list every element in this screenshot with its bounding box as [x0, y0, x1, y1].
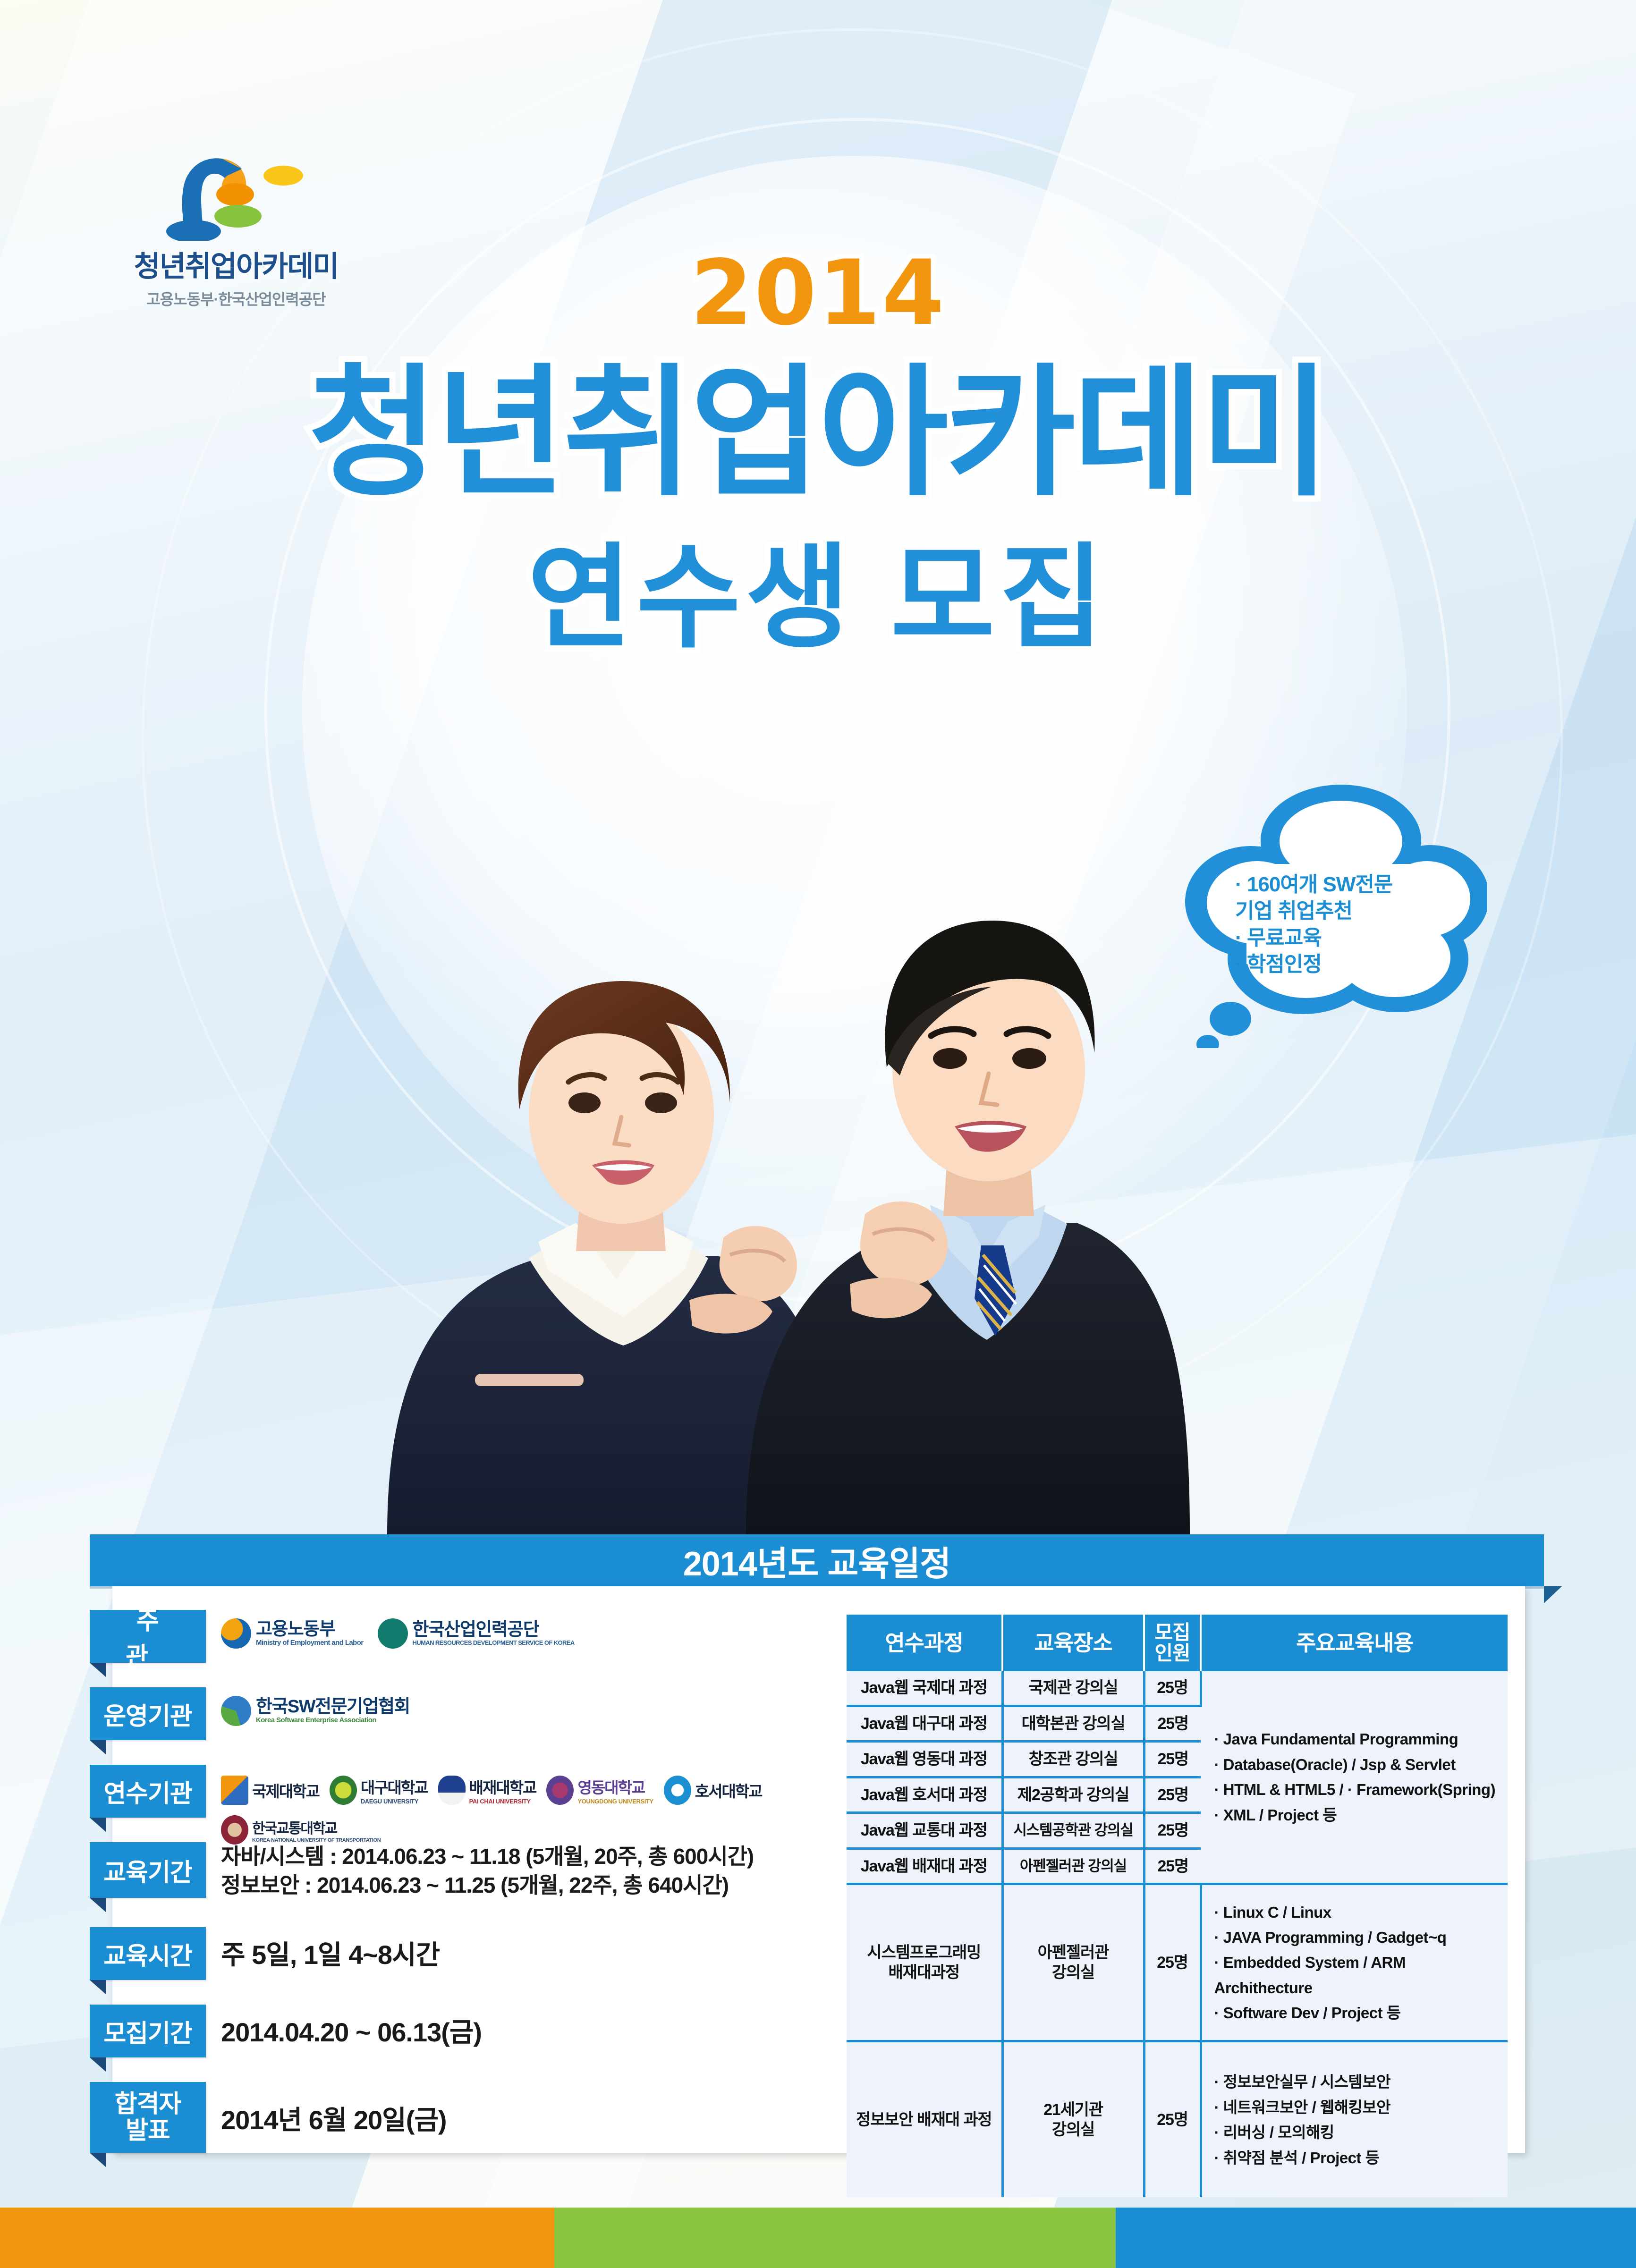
period-line-1: 자바/시스템 : 2014.06.23 ~ 11.18 (5개월, 20주, 총… [221, 1842, 826, 1871]
cell-quota: 25명 [1144, 1884, 1201, 2041]
cell-course: 시스템프로그래밍 배재대과정 [847, 1884, 1002, 2041]
content-line: · Linux C / Linux [1214, 1900, 1505, 1925]
info-row-period: 교육기간 자바/시스템 : 2014.06.23 ~ 11.18 (5개월, 2… [90, 1842, 826, 1921]
university-name: 국제대학교 [252, 1779, 319, 1802]
content-line: · HTML & HTML5 / · Framework(Spring) [1214, 1777, 1505, 1802]
hero-year: 2014 [0, 241, 1636, 345]
students-photo [359, 722, 1190, 1534]
info-label-host: 주 관 [90, 1610, 206, 1663]
info-row-operator: 운영기관 한국SW전문기업협회 Korea Software Enterpris… [90, 1687, 826, 1759]
cell-quota: 25명 [1144, 2041, 1201, 2198]
footer-segment-orange [0, 2208, 554, 2268]
logo-mark-icon [151, 142, 321, 241]
university-logos: 국제대학교 대구대학교 DAEGU UNIVERSITY 배재대학교 PAI C… [221, 1775, 826, 1845]
university-crest-icon [221, 1776, 248, 1805]
cell-course: Java웹 배재대 과정 [847, 1848, 1002, 1884]
cell-place: 국제관 강의실 [1002, 1671, 1144, 1706]
cell-content-system: · Linux C / Linux · JAVA Programming / G… [1201, 1884, 1508, 2041]
info-label-period: 교육기간 [90, 1842, 206, 1898]
university-name-en: PAI CHAI UNIVERSITY [469, 1798, 536, 1805]
announcement-value: 2014년 6월 20일(금) [221, 2103, 826, 2138]
content-line: · Software Dev / Project 등 [1214, 2000, 1505, 2025]
info-label-operator: 운영기관 [90, 1687, 206, 1740]
schedule-table: 연수과정 교육장소 모집 인원 주요교육내용 Java웹 국제대 과정 국제관 … [847, 1615, 1508, 2197]
header-course: 연수과정 [847, 1615, 1002, 1671]
org-logo-molab: 고용노동부 Ministry of Employment and Labor [221, 1618, 364, 1649]
hero-title-line1: 청년취업아카데미 [0, 359, 1636, 508]
header-place: 교육장소 [1002, 1615, 1144, 1671]
application-value: 2014.04.20 ~ 06.13(금) [221, 2015, 826, 2050]
bubble-line-1: · 160여개 SW전문 [1235, 872, 1438, 898]
university-name: 한국교통대학교 [252, 1817, 381, 1837]
university-name: 배재대학교 [469, 1775, 536, 1798]
info-row-application: 모집기간 2014.04.20 ~ 06.13(금) [90, 2005, 826, 2076]
university-name: 영동대학교 [577, 1775, 653, 1798]
cell-place: 제2공학과 강의실 [1002, 1777, 1144, 1813]
bubble-line-2: 기업 취업추천 [1235, 898, 1438, 924]
org-name-en: Ministry of Employment and Labor [256, 1639, 364, 1647]
cell-quota: 25명 [1144, 1671, 1201, 1706]
cell-place: 대학본관 강의실 [1002, 1706, 1144, 1742]
table-header-row: 연수과정 교육장소 모집 인원 주요교육내용 [847, 1615, 1508, 1671]
university-name: 호서대학교 [695, 1779, 762, 1802]
cell-place: 시스템공학관 강의실 [1002, 1813, 1144, 1849]
two-students-illustration [359, 722, 1190, 1534]
info-label-application: 모집기간 [90, 2005, 206, 2057]
org-logo-hrdkorea: 한국산업인력공단 HUMAN RESOURCES DEVELOPMENT SER… [378, 1618, 575, 1649]
org-name: 고용노동부 [256, 1620, 364, 1639]
university-crest-icon [221, 1815, 248, 1845]
schedule-banner-title: 2014년도 교육일정 [683, 1536, 951, 1585]
table-row: Java웹 국제대 과정 국제관 강의실 25명 · Java Fundamen… [847, 1671, 1508, 1706]
university-name-en: DAEGU UNIVERSITY [361, 1798, 428, 1805]
table-row: 정보보안 배재대 과정 21세기관 강의실 25명 · 정보보안실무 / 시스템… [847, 2041, 1508, 2198]
university-paichai: 배재대학교 PAI CHAI UNIVERSITY [438, 1775, 536, 1805]
cell-quota: 25명 [1144, 1706, 1201, 1742]
cell-course: Java웹 교통대 과정 [847, 1813, 1002, 1849]
cell-content-security: · 정보보안실무 / 시스템보안 · 네트워크보안 / 웹해킹보안 · 리버싱 … [1201, 2041, 1508, 2198]
content-line: · 리버싱 / 모의해킹 [1214, 2120, 1505, 2145]
header-content: 주요교육내용 [1201, 1615, 1508, 1671]
cell-course: 정보보안 배재대 과정 [847, 2041, 1002, 2198]
content-line: · Database(Oracle) / Jsp & Servlet [1214, 1752, 1505, 1777]
info-label-institutions: 연수기관 [90, 1765, 206, 1818]
footer-color-bar [0, 2208, 1636, 2268]
footer-segment-blue [1116, 2208, 1636, 2268]
cell-quota: 25명 [1144, 1813, 1201, 1849]
molab-emblem-icon [221, 1618, 251, 1649]
content-line: · XML / Project 등 [1214, 1803, 1505, 1828]
schedule-banner: 2014년도 교육일정 [90, 1534, 1544, 1586]
poster-root: 청년취업아카데미 고용노동부·한국산업인력공단 2014 청년취업아카데미 연수… [0, 0, 1636, 2268]
cell-quota: 25명 [1144, 1848, 1201, 1884]
info-row-announcement: 합격자 발표 2014년 6월 20일(금) [90, 2082, 826, 2167]
info-row-institutions: 연수기관 국제대학교 대구대학교 DAEGU UNIVERSITY [90, 1765, 826, 1836]
university-name: 대구대학교 [361, 1775, 428, 1798]
info-label-announcement: 합격자 발표 [90, 2082, 206, 2153]
header-quota: 모집 인원 [1144, 1615, 1201, 1671]
cell-course: Java웹 영동대 과정 [847, 1742, 1002, 1777]
university-crest-icon [546, 1776, 574, 1805]
host-logos: 고용노동부 Ministry of Employment and Labor 한… [221, 1618, 826, 1649]
cell-course: Java웹 호서대 과정 [847, 1777, 1002, 1813]
university-transportation: 한국교통대학교 KOREA NATIONAL UNIVERSITY OF TRA… [221, 1815, 381, 1845]
info-list: 주 관 고용노동부 Ministry of Employment and Lab… [90, 1610, 826, 2173]
table-row: 시스템프로그래밍 배재대과정 아펜젤러관 강의실 25명 · Linux C /… [847, 1884, 1508, 2041]
content-line: · 취약점 분석 / Project 등 [1214, 2145, 1505, 2170]
cell-content-java: · Java Fundamental Programming · Databas… [1201, 1671, 1508, 1884]
footer-segment-green [554, 2208, 1116, 2268]
org-name-en: HUMAN RESOURCES DEVELOPMENT SERVICE OF K… [413, 1640, 575, 1646]
university-crest-icon [438, 1776, 466, 1805]
cell-quota: 25명 [1144, 1777, 1201, 1813]
university-hoseo: 호서대학교 [664, 1776, 762, 1805]
hours-value: 주 5일, 1일 4~8시간 [221, 1938, 826, 1972]
info-row-hours: 교육시간 주 5일, 1일 4~8시간 [90, 1927, 826, 1999]
content-line: · 정보보안실무 / 시스템보안 [1214, 2069, 1505, 2094]
university-daegu: 대구대학교 DAEGU UNIVERSITY [330, 1775, 428, 1805]
cell-place: 창조관 강의실 [1002, 1742, 1144, 1777]
banner-fold-decoration [1544, 1586, 1562, 1603]
announcement-label-text: 합격자 발표 [115, 2091, 181, 2144]
university-crest-icon [664, 1776, 691, 1805]
university-crest-icon [330, 1776, 357, 1805]
kosea-emblem-icon [221, 1696, 251, 1726]
cell-place: 아펜젤러관 강의실 [1002, 1848, 1144, 1884]
content-line: · Embedded System / ARM Archithecture [1214, 1950, 1505, 2000]
cell-quota: 25명 [1144, 1742, 1201, 1777]
hrdkorea-emblem-icon [378, 1618, 408, 1649]
info-row-host: 주 관 고용노동부 Ministry of Employment and Lab… [90, 1610, 826, 1682]
university-kookje: 국제대학교 [221, 1776, 319, 1805]
cell-place: 21세기관 강의실 [1002, 2041, 1144, 2198]
content-line: · 네트워크보안 / 웹해킹보안 [1214, 2095, 1505, 2120]
male-student [746, 921, 1190, 1534]
period-line-2: 정보보안 : 2014.06.23 ~ 11.25 (5개월, 22주, 총 6… [221, 1871, 826, 1900]
benefits-thought-bubble: · 160여개 SW전문 기업 취업추천 · 무료교육 · 학점인정 [1185, 784, 1487, 1020]
bubble-line-3: · 무료교육 [1235, 925, 1438, 951]
hero-title-line2: 연수생 모집 [0, 538, 1636, 657]
org-logo-kosea: 한국SW전문기업협회 Korea Software Enterprise Ass… [221, 1696, 410, 1726]
university-youngdong: 영동대학교 YOUNGDONG UNIVERSITY [546, 1775, 653, 1805]
university-name-en: YOUNGDONG UNIVERSITY [577, 1798, 653, 1805]
sprout-icon [151, 142, 321, 241]
bubble-line-4: · 학점인정 [1235, 951, 1438, 978]
org-name-en: Korea Software Enterprise Association [256, 1717, 410, 1724]
content-line: · JAVA Programming / Gadget~q [1214, 1925, 1505, 1950]
cell-place: 아펜젤러관 강의실 [1002, 1884, 1144, 2041]
org-name: 한국산업인력공단 [413, 1621, 575, 1640]
cell-course: Java웹 대구대 과정 [847, 1706, 1002, 1742]
content-line: · Java Fundamental Programming [1214, 1726, 1505, 1752]
info-label-hours: 교육시간 [90, 1927, 206, 1980]
operator-logos: 한국SW전문기업협회 Korea Software Enterprise Ass… [221, 1696, 826, 1726]
bubble-text: · 160여개 SW전문 기업 취업추천 · 무료교육 · 학점인정 [1235, 872, 1438, 978]
org-name: 한국SW전문기업협회 [256, 1698, 410, 1717]
cell-course: Java웹 국제대 과정 [847, 1671, 1002, 1706]
